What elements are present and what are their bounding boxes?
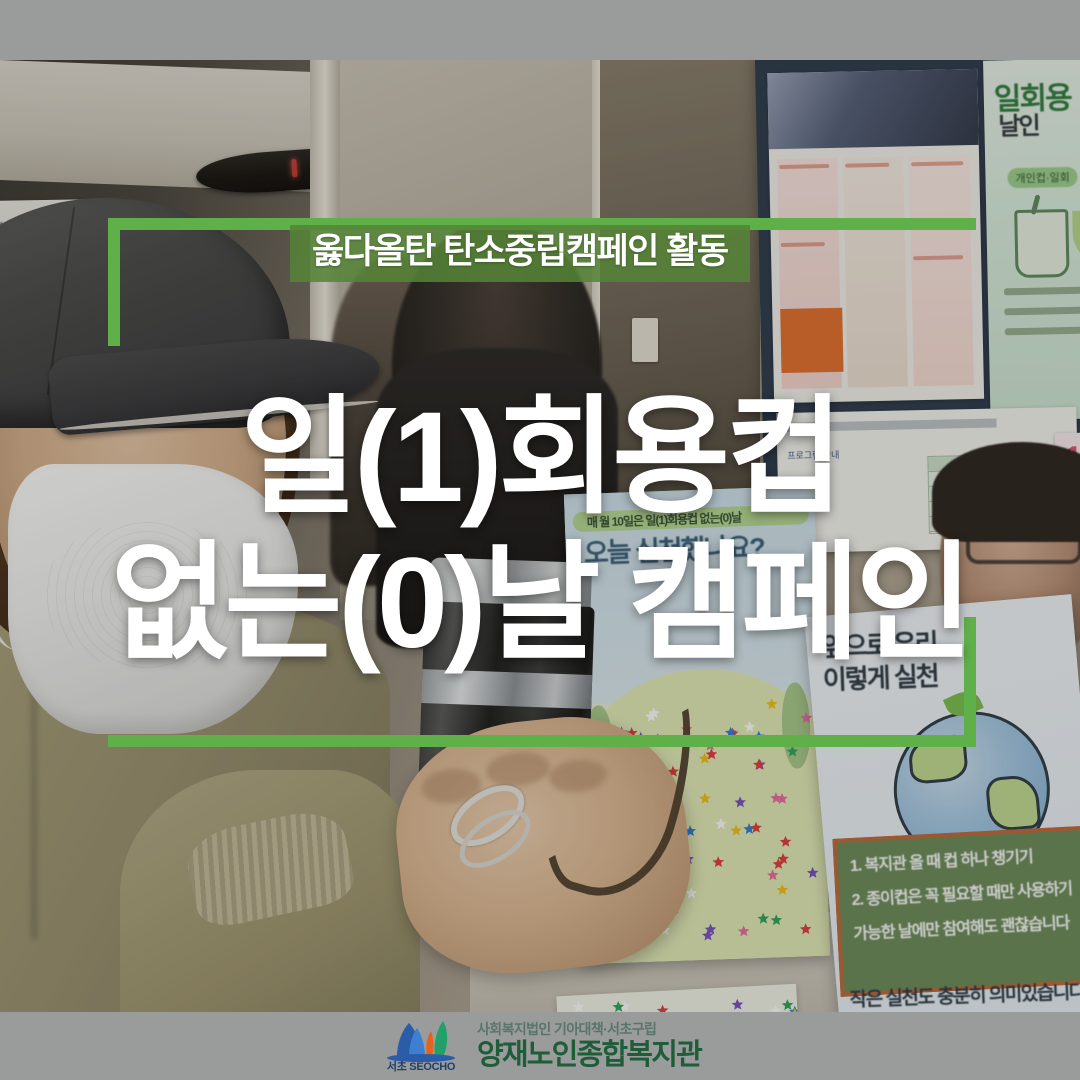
wall-poster-title-2: 날인: [998, 106, 1039, 142]
top-band: [0, 0, 1080, 60]
subtitle-text: 옳다올탄 탄소중립캠페인 활동: [312, 234, 728, 269]
wall-poster-newsletter: [767, 69, 984, 403]
seocho-logo: 서초 SEOCHO: [379, 1017, 463, 1075]
main-title: 일(1)회용컵 없는(0)날 캠페인: [0, 385, 1080, 677]
wall-poster-campaign: 일회용 날인 개인컵·일회: [983, 60, 1080, 421]
org-name-small: 사회복지법인 기아대책·서초구립: [477, 1022, 701, 1036]
wall-switch-plate: [632, 318, 658, 362]
footer: 서초 SEOCHO 사회복지법인 기아대책·서초구립 양재노인종합복지관: [0, 1012, 1080, 1080]
practice-rules: 1. 복지관 올 때 컵 하나 챙기기 2. 종이컵은 꼭 필요할 때만 사용하…: [832, 825, 1080, 997]
campaign-card: 안내도 일회용 날인 개인컵·일회: [0, 0, 1080, 1080]
paper-cup-icon: [1014, 209, 1069, 278]
leaf-icon: [1072, 210, 1080, 265]
subtitle-banner: 옳다올탄 탄소중립캠페인 활동: [290, 225, 750, 282]
seocho-logo-text: 서초 SEOCHO: [379, 1058, 463, 1074]
wall-poster-badge: 개인컵·일회: [1007, 167, 1078, 188]
organization-name: 사회복지법인 기아대책·서초구립 양재노인종합복지관: [477, 1022, 701, 1070]
org-name-large: 양재노인종합복지관: [477, 1041, 701, 1070]
title-line-2: 없는(0)날 캠페인: [0, 531, 1080, 677]
title-line-1: 일(1)회용컵: [0, 385, 1080, 531]
